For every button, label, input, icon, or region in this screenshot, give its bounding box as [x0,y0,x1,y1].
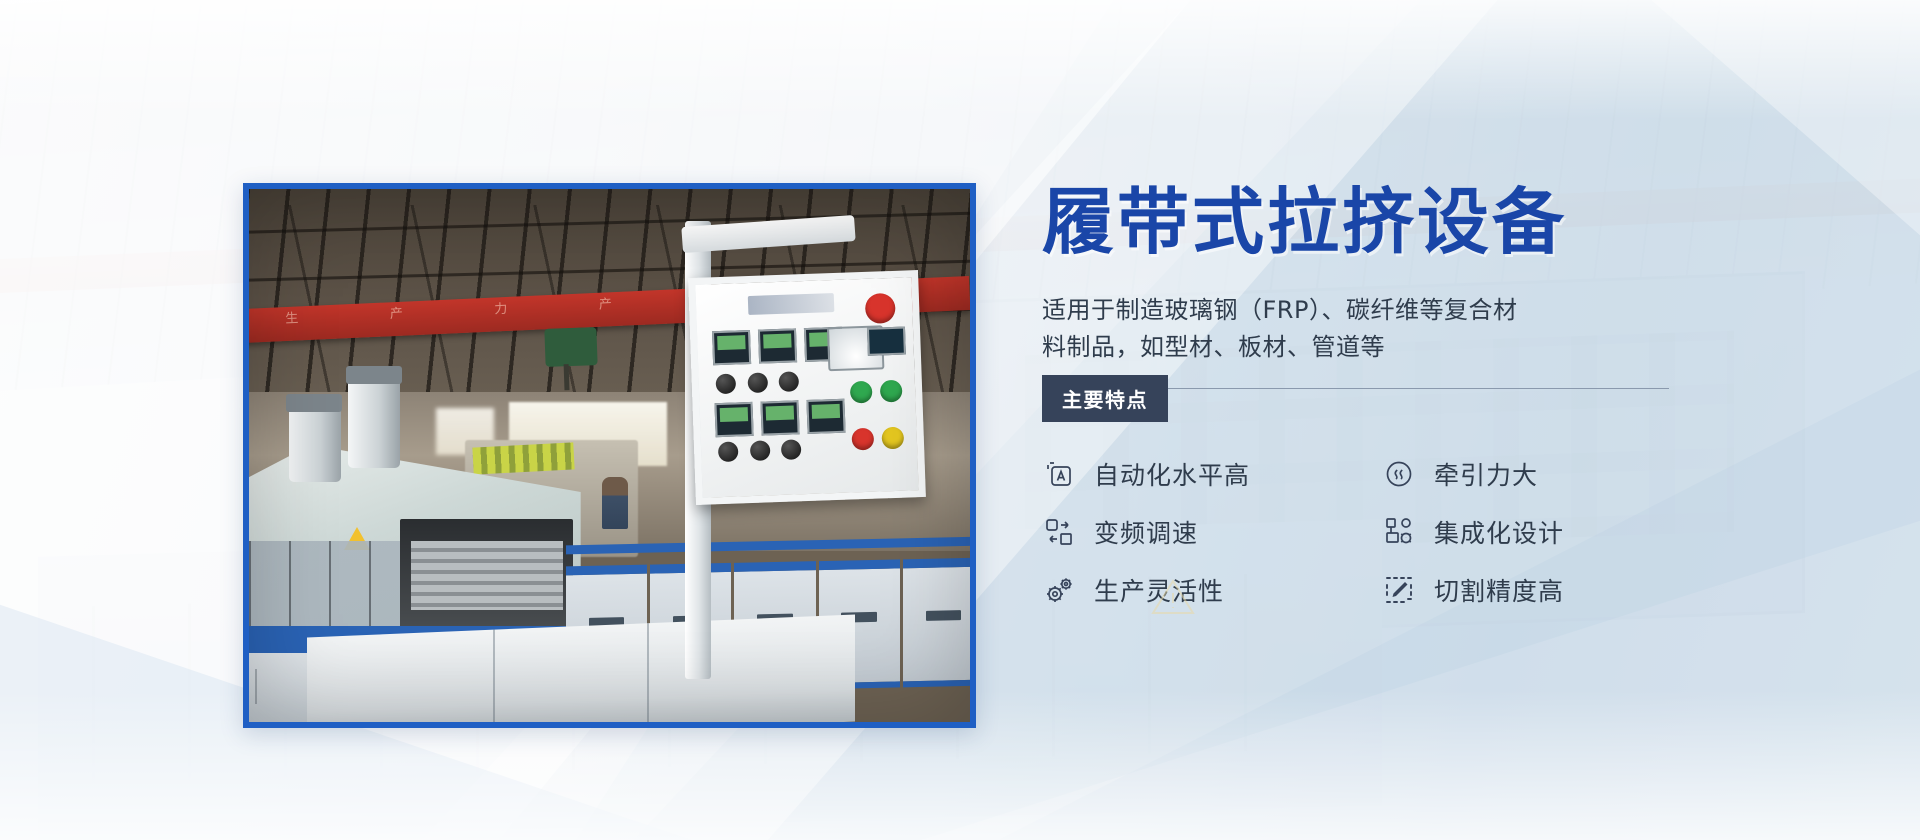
status-badge: 主要特点 [1042,375,1168,422]
feature-label: 切割精度高 [1434,572,1564,608]
feature-item-cutting: 切割精度高 [1382,572,1682,608]
pultrusion-machine-factory-photo: 生 产 力 产 基 地 [249,189,970,722]
frequency-transfer-icon [1042,515,1076,549]
feature-item-flexibility: 生产灵活性 [1042,572,1382,608]
product-banner: 生 产 力 产 基 地 [0,0,1920,840]
automation-a-icon [1042,457,1076,491]
watermark-triangle-icon [1150,577,1196,617]
feature-item-frequency: 变频调速 [1042,514,1382,550]
feature-list: 自动化水平高 牵引力大 [1042,456,1682,608]
integration-gear-icon [1382,515,1416,549]
gears-flexibility-icon [1042,573,1076,607]
feature-label: 变频调速 [1094,514,1198,550]
page-title: 履带式拉挤设备 [1042,186,1682,258]
subtitle-line-2: 料制品，如型材、板材、管道等 [1042,333,1385,361]
feature-label: 牵引力大 [1434,456,1538,492]
product-photo-card: 生 产 力 产 基 地 [243,183,976,728]
banner-content: 履带式拉挤设备 适用于制造玻璃钢（FRP）、碳纤维等复合材 料制品，如型材、板材… [1042,186,1682,608]
feature-item-traction: 牵引力大 [1382,456,1682,492]
subtitle-line-1: 适用于制造玻璃钢（FRP）、碳纤维等复合材 [1042,296,1517,324]
banner-subtitle: 适用于制造玻璃钢（FRP）、碳纤维等复合材 料制品，如型材、板材、管道等 [1042,292,1682,366]
feature-item-integration: 集成化设计 [1382,514,1682,550]
photo-vignette [249,189,970,722]
feature-label: 自动化水平高 [1094,456,1250,492]
feature-item-automation: 自动化水平高 [1042,456,1382,492]
feature-label: 集成化设计 [1434,514,1564,550]
precision-cut-icon [1382,573,1416,607]
traction-waves-icon [1382,457,1416,491]
